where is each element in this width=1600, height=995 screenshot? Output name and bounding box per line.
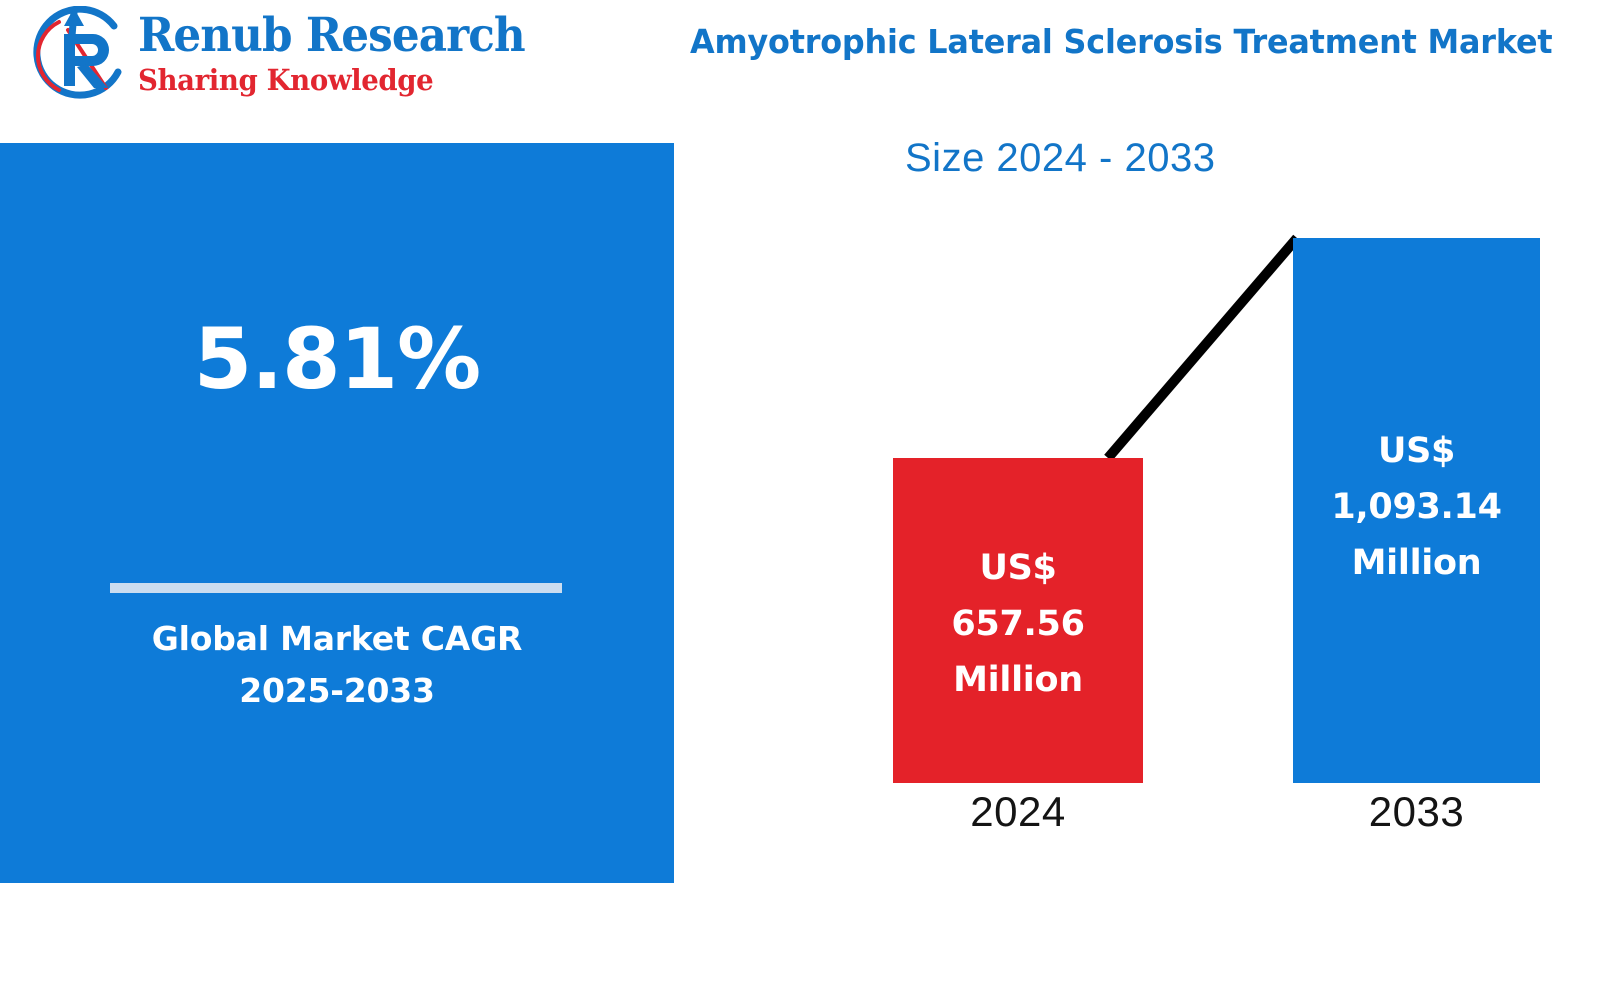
brand-name: Renub Research bbox=[138, 10, 491, 62]
cagr-caption-line-2: 2025-2033 bbox=[0, 665, 674, 717]
axis-label-2024: 2024 bbox=[893, 787, 1143, 837]
brand-tagline: Sharing Knowledge bbox=[138, 64, 499, 96]
chart-subtitle: Size 2024 - 2033 bbox=[905, 133, 1505, 183]
bar-2024-value-label: US$ 657.56 Million bbox=[893, 540, 1143, 708]
axis-label-2033: 2033 bbox=[1293, 787, 1540, 837]
bar-2033-value-line-1: US$ bbox=[1293, 423, 1540, 479]
bar-2024-value-line-2: 657.56 bbox=[893, 596, 1143, 652]
bar-2024-value-line-1: US$ bbox=[893, 540, 1143, 596]
chart-title: Amyotrophic Lateral Sclerosis Treatment … bbox=[690, 22, 1539, 62]
brand-wordmark: Renub Research Sharing Knowledge bbox=[138, 10, 518, 96]
bar-2024-value-line-3: Million bbox=[893, 652, 1143, 708]
brand-logo: Renub Research Sharing Knowledge bbox=[18, 2, 518, 110]
cagr-caption: Global Market CAGR 2025-2033 bbox=[0, 613, 674, 717]
bar-2033-value-line-2: 1,093.14 bbox=[1293, 479, 1540, 535]
cagr-value: 5.81% bbox=[0, 313, 674, 405]
bar-2033[interactable]: US$ 1,093.14 Million bbox=[1293, 238, 1540, 783]
bar-2024[interactable]: US$ 657.56 Million bbox=[893, 458, 1143, 783]
bar-2033-value-line-3: Million bbox=[1293, 535, 1540, 591]
cagr-caption-line-1: Global Market CAGR bbox=[0, 613, 674, 665]
bar-2033-value-label: US$ 1,093.14 Million bbox=[1293, 423, 1540, 591]
source-note: Source www.renub.com bbox=[20, 965, 273, 995]
renub-r-arrow-logo-icon bbox=[28, 6, 136, 106]
cagr-panel: 5.81% Global Market CAGR 2025-2033 Sourc… bbox=[0, 143, 674, 883]
cagr-divider bbox=[110, 583, 562, 593]
